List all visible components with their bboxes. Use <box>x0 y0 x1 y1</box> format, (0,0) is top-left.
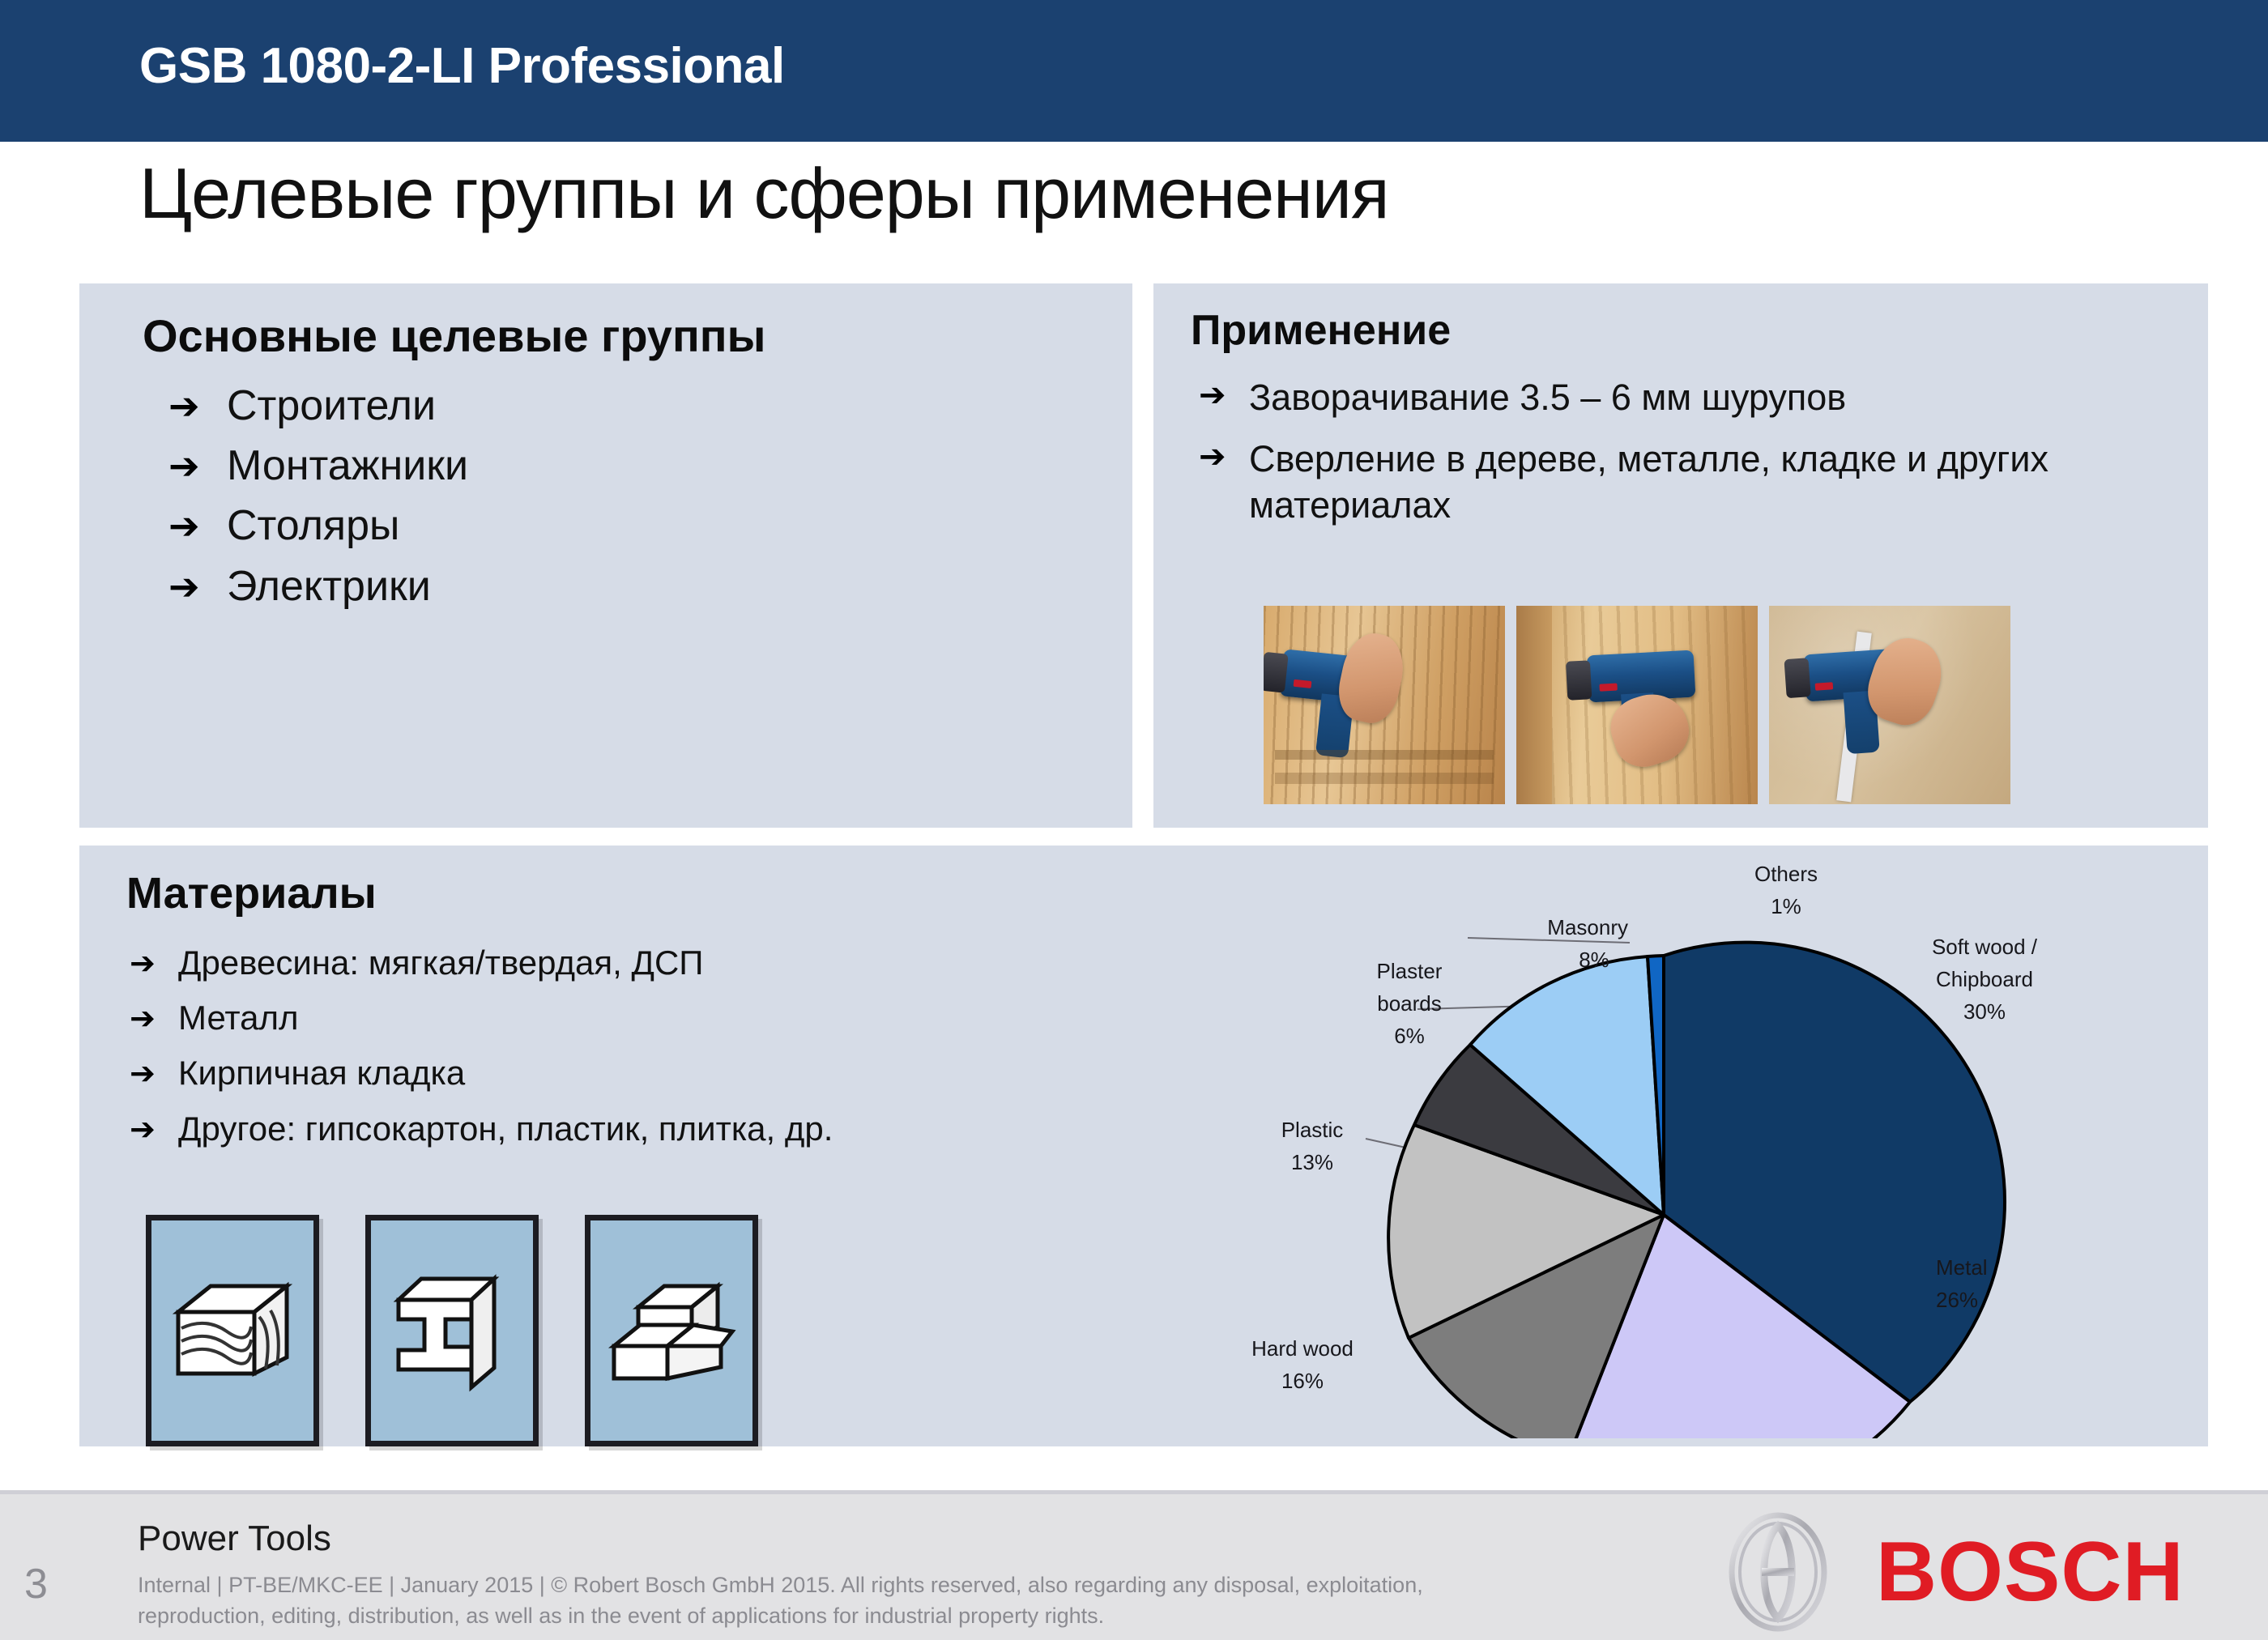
pie-label-others-name: Others <box>1754 862 1818 886</box>
page-number: 3 <box>24 1560 48 1608</box>
pie-label-others-value: 1% <box>1771 894 1801 918</box>
pie-slices <box>1388 943 2005 1438</box>
list-item: ➔ Другое: гипсокартон, пластик, плитка, … <box>130 1110 1150 1148</box>
target-groups-heading: Основные целевые группы <box>143 309 765 362</box>
photo-drill-screwing-metal-profile <box>1769 606 2010 804</box>
list-item: ➔ Древесина: мягкая/твердая, ДСП <box>130 944 1150 982</box>
wood-block-icon <box>146 1215 319 1446</box>
pie-label-plaster-value: 6% <box>1394 1024 1425 1048</box>
pie-label-softwood-name2: Chipboard <box>1936 967 2033 991</box>
product-title: GSB 1080-2-LI Professional <box>139 37 785 95</box>
usage-heading: Применение <box>1191 306 1451 355</box>
legal-line-1: Internal | PT-BE/MKC-EE | January 2015 |… <box>138 1570 1563 1600</box>
bosch-wordmark: BOSCH <box>1876 1530 2185 1614</box>
legal-notice: Internal | PT-BE/MKC-EE | January 2015 |… <box>138 1570 1563 1632</box>
arrow-bullet-icon: ➔ <box>130 1054 178 1088</box>
list-item: ➔ Сверление в дереве, металле, кладке и … <box>1199 436 2171 529</box>
panel-target-groups: Основные целевые группы ➔ Строители ➔ Мо… <box>79 283 1132 828</box>
slide-header-bar: GSB 1080-2-LI Professional <box>0 0 2268 142</box>
pie-label-plastic-name: Plastic <box>1281 1118 1344 1142</box>
list-item-label: Строители <box>227 382 436 429</box>
pie-label-softwood-value: 30% <box>1963 999 2006 1024</box>
pie-label-hardwood-value: 16% <box>1281 1369 1324 1393</box>
arrow-bullet-icon: ➔ <box>130 999 178 1033</box>
list-item-label: Другое: гипсокартон, пластик, плитка, др… <box>178 1110 833 1148</box>
pie-label-masonry-value: 8% <box>1579 948 1609 972</box>
usage-photo-strip <box>1264 606 2010 804</box>
pie-label-softwood-name1: Soft wood / <box>1932 935 2038 959</box>
list-item-label: Металл <box>178 999 299 1037</box>
pie-label-metal-value: 26% <box>1936 1288 1978 1312</box>
bosch-logo: BOSCH <box>1717 1511 2185 1633</box>
pie-label-plastic-value: 13% <box>1291 1150 1333 1174</box>
list-item: ➔ Строители <box>168 382 1108 429</box>
materials-pie-chart: Others 1% Masonry 8% Plaster boards 6% P… <box>1166 855 2187 1438</box>
arrow-bullet-icon: ➔ <box>168 442 227 484</box>
list-item-label: Монтажники <box>227 442 468 489</box>
list-item-label: Сверление в дереве, металле, кладке и др… <box>1249 436 2171 529</box>
list-item: ➔ Заворачивание 3.5 – 6 мм шурупов <box>1199 374 2171 421</box>
arrow-bullet-icon: ➔ <box>168 382 227 424</box>
usage-list: ➔ Заворачивание 3.5 – 6 мм шурупов ➔ Све… <box>1199 374 2171 543</box>
legal-line-2: reproduction, editing, distribution, as … <box>138 1600 1563 1631</box>
materials-heading: Материалы <box>126 868 377 918</box>
arrow-bullet-icon: ➔ <box>1199 436 1249 473</box>
list-item: ➔ Металл <box>130 999 1150 1037</box>
steel-beam-icon <box>365 1215 539 1446</box>
list-item: ➔ Электрики <box>168 563 1108 610</box>
arrow-bullet-icon: ➔ <box>168 563 227 605</box>
arrow-bullet-icon: ➔ <box>130 1110 178 1144</box>
division-name: Power Tools <box>138 1519 331 1559</box>
photo-drill-screwing-wood-beam <box>1264 606 1505 804</box>
pie-label-metal-name: Metal <box>1936 1255 1988 1280</box>
arrow-bullet-icon: ➔ <box>130 944 178 978</box>
list-item-label: Заворачивание 3.5 – 6 мм шурупов <box>1249 374 1846 421</box>
bosch-anchor-icon <box>1717 1511 1839 1633</box>
arrow-bullet-icon: ➔ <box>1199 374 1249 411</box>
arrow-bullet-icon: ➔ <box>168 502 227 544</box>
list-item: ➔ Кирпичная кладка <box>130 1054 1150 1092</box>
brick-stack-icon <box>585 1215 758 1446</box>
pie-label-hardwood-name: Hard wood <box>1251 1336 1354 1361</box>
photo-drill-drilling-door <box>1516 606 1758 804</box>
list-item-label: Электрики <box>227 563 431 610</box>
pie-label-plaster-name1: Plaster <box>1377 959 1443 983</box>
list-item-label: Кирпичная кладка <box>178 1054 465 1092</box>
list-item: ➔ Столяры <box>168 502 1108 549</box>
list-item-label: Столяры <box>227 502 399 549</box>
materials-list: ➔ Древесина: мягкая/твердая, ДСП ➔ Метал… <box>130 944 1150 1165</box>
material-icon-cards <box>146 1215 758 1446</box>
pie-label-plaster-name2: boards <box>1377 991 1442 1016</box>
target-groups-list: ➔ Строители ➔ Монтажники ➔ Столяры ➔ Эле… <box>168 382 1108 623</box>
list-item-label: Древесина: мягкая/твердая, ДСП <box>178 944 703 982</box>
pie-label-masonry-name: Masonry <box>1547 915 1628 939</box>
page-title: Целевые группы и сферы применения <box>139 152 1389 235</box>
list-item: ➔ Монтажники <box>168 442 1108 489</box>
